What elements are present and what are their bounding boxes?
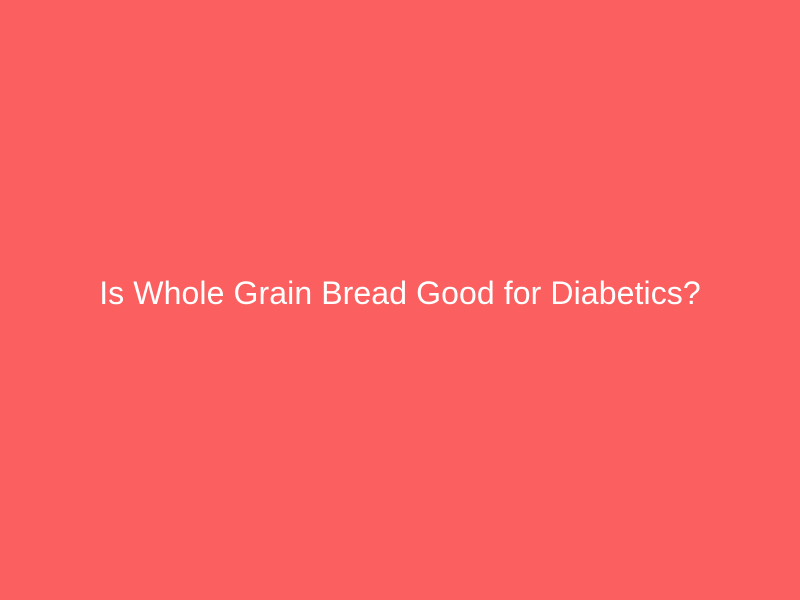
hero-card: Is Whole Grain Bread Good for Diabetics?: [0, 0, 800, 600]
page-title: Is Whole Grain Bread Good for Diabetics?: [99, 274, 701, 312]
hero-title-container: Is Whole Grain Bread Good for Diabetics?: [0, 274, 800, 312]
